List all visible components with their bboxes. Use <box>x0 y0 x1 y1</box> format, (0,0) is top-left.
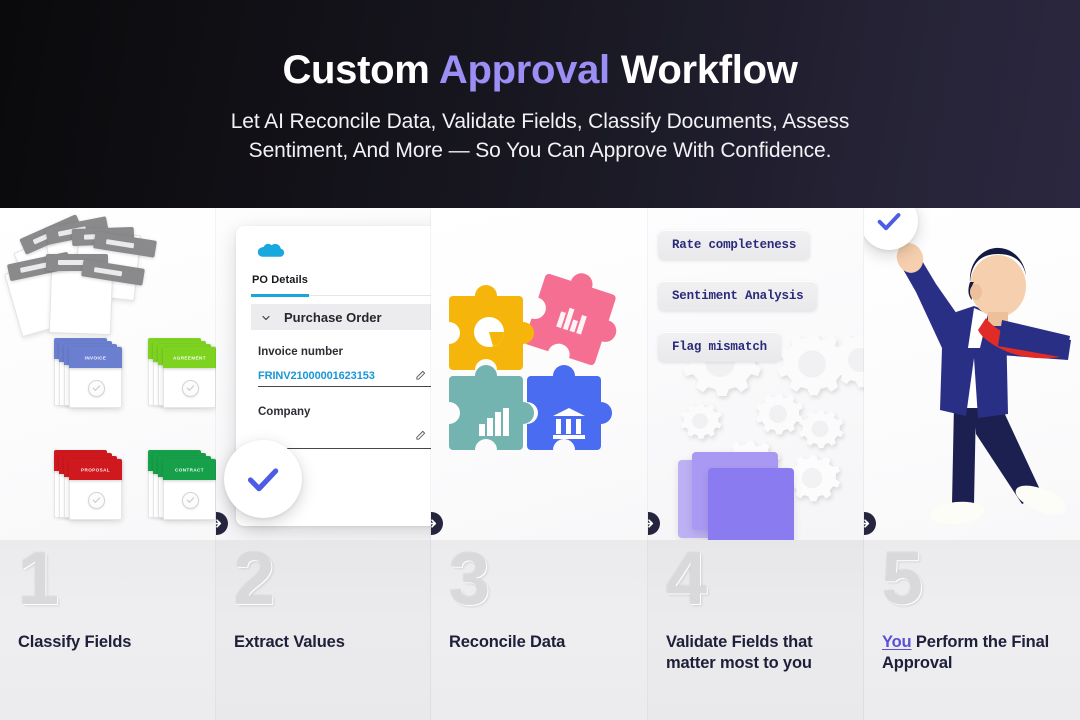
step-number: 1 <box>18 542 59 616</box>
invoice-number-underline <box>258 386 431 387</box>
step-number: 5 <box>882 542 923 616</box>
step-1-illustration: INVOICE AGREEMENT <box>0 208 216 540</box>
header-banner: Custom Approval Workflow Let AI Reconcil… <box>0 0 1080 208</box>
classified-folder-contract: CONTRACT <box>148 444 216 522</box>
step-panel-3: 3 Reconcile Data <box>431 208 648 720</box>
gear-small <box>756 394 803 435</box>
salesforce-cloud-icon <box>252 240 288 262</box>
edit-pencil-icon[interactable] <box>415 428 426 439</box>
step-panel-5: 5 You Perform the Final Approval <box>864 208 1080 720</box>
title-part-2: Workflow <box>621 48 798 92</box>
step-panel-1: INVOICE AGREEMENT <box>0 208 216 720</box>
folder-label: AGREEMENT <box>173 355 206 360</box>
approval-check-badge <box>224 440 302 518</box>
step-label: Extract Values <box>234 632 421 653</box>
pill-sentiment-analysis[interactable]: Sentiment Analysis <box>658 281 817 311</box>
step-2-illustration: PO Details Purchase Order Invoice number… <box>216 208 431 540</box>
step-5-footer: 5 You Perform the Final Approval <box>864 540 1080 720</box>
company-label: Company <box>258 406 310 418</box>
classified-folder-proposal: PROPOSAL <box>54 444 122 522</box>
edit-pencil-icon[interactable] <box>415 368 426 379</box>
step-5-illustration <box>864 208 1080 540</box>
gear-small <box>799 410 843 448</box>
page-subtitle: Let AI Reconcile Data, Validate Fields, … <box>231 108 850 166</box>
steps-row: INVOICE AGREEMENT <box>0 208 1080 720</box>
step-4-illustration: Rate completeness Sentiment Analysis Fla… <box>648 208 864 540</box>
po-details-tab[interactable]: PO Details <box>252 274 308 286</box>
pill-rate-completeness[interactable]: Rate completeness <box>658 230 810 260</box>
bank-piece-blue <box>527 365 612 450</box>
document-folders-purple <box>678 446 808 540</box>
step-label: Validate Fields that matter most to you <box>666 632 854 674</box>
step-label: Classify Fields <box>18 632 206 653</box>
title-accent-word: Approval <box>439 48 610 92</box>
folder-label: INVOICE <box>85 355 107 360</box>
purchase-order-section-header[interactable]: Purchase Order <box>251 304 431 330</box>
check-icon <box>88 380 105 397</box>
step-number: 4 <box>666 542 707 616</box>
invoice-number-label: Invoice number <box>258 346 343 358</box>
puzzle-pieces-group <box>441 260 641 470</box>
step-panel-2: PO Details Purchase Order Invoice number… <box>216 208 431 720</box>
invoice-number-value[interactable]: FRINV21000001623153 <box>258 370 375 382</box>
step-label: You Perform the Final Approval <box>882 632 1070 674</box>
classified-folder-agreement: AGREEMENT <box>148 332 216 410</box>
pie-chart-piece <box>449 285 534 370</box>
page-title: Custom Approval Workflow <box>282 48 797 93</box>
step-number: 2 <box>234 542 275 616</box>
step-number: 3 <box>449 542 490 616</box>
unclassified-documents-fan <box>6 226 166 344</box>
subtitle-line-2: Sentiment, And More — So You Can Approve… <box>231 137 850 166</box>
chevron-down-icon <box>260 311 272 323</box>
step-3-footer: 3 Reconcile Data <box>431 540 648 720</box>
tab-active-underline <box>251 294 309 297</box>
workflow-infographic: Custom Approval Workflow Let AI Reconcil… <box>0 0 1080 720</box>
bar-chart-piece-pink <box>523 262 630 369</box>
step-4-footer: 4 Validate Fields that matter most to yo… <box>648 540 864 720</box>
folder-label: PROPOSAL <box>81 467 110 472</box>
title-part-1: Custom <box>282 48 429 92</box>
businessman-illustration <box>864 208 1080 548</box>
gear-small <box>681 403 722 438</box>
bar-chart-piece-teal <box>449 365 534 450</box>
subtitle-line-1: Let AI Reconcile Data, Validate Fields, … <box>231 108 850 137</box>
classified-folder-invoice: INVOICE <box>54 332 122 410</box>
pill-flag-mismatch[interactable]: Flag mismatch <box>658 332 781 362</box>
step-1-footer: 1 Classify Fields <box>0 540 216 720</box>
step-3-illustration <box>431 208 648 540</box>
folder-label: CONTRACT <box>175 467 204 472</box>
step-label: Reconcile Data <box>449 632 638 653</box>
step-2-footer: 2 Extract Values <box>216 540 431 720</box>
check-icon <box>88 492 105 509</box>
check-icon <box>182 380 199 397</box>
step-panel-4: Rate completeness Sentiment Analysis Fla… <box>648 208 864 720</box>
step-label-highlight: You <box>882 633 912 651</box>
section-title: Purchase Order <box>284 310 382 325</box>
check-icon <box>182 492 199 509</box>
